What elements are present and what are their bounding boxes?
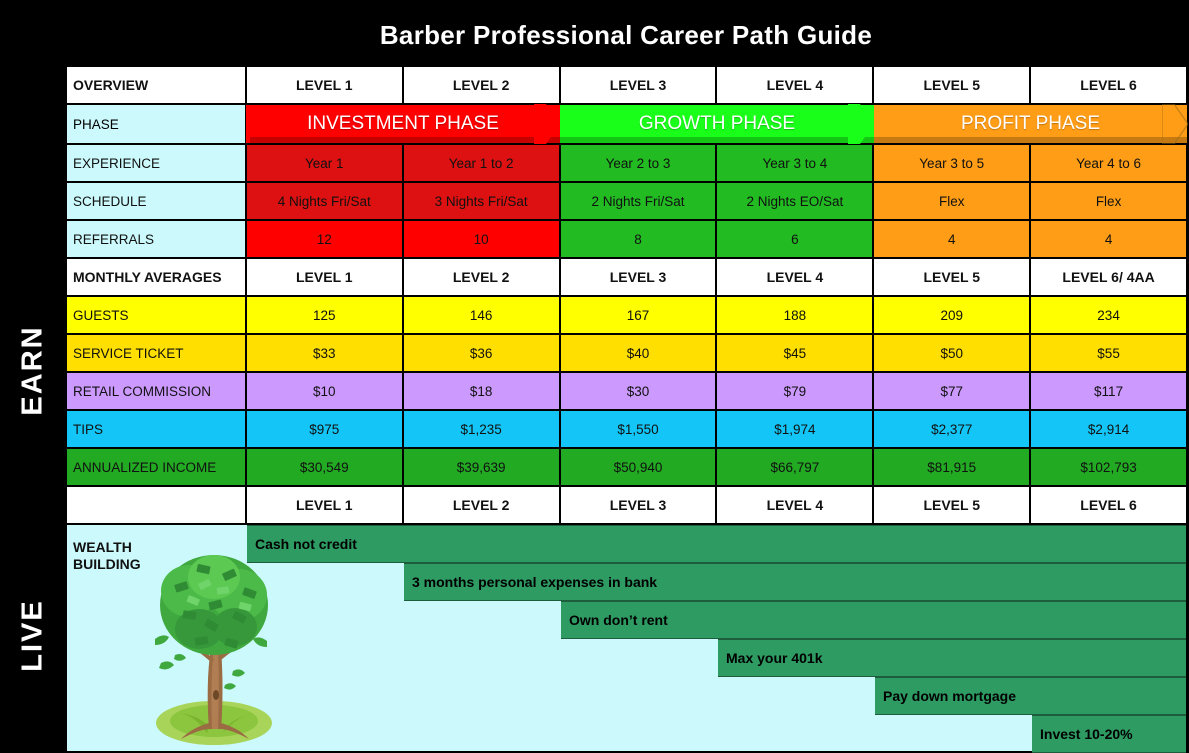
wealth-bar-3-text: Own don’t rent bbox=[561, 612, 668, 628]
monthly-row-3-cell-4: $79 bbox=[716, 372, 873, 410]
rail-earn-text: EARN bbox=[17, 325, 50, 415]
overview-row-1-cell-6: Year 4 to 6 bbox=[1030, 144, 1187, 182]
monthly-header-col-3: LEVEL 3 bbox=[560, 258, 717, 296]
monthly-row-4-cell-5: $2,377 bbox=[873, 410, 1030, 448]
overview-header-label: OVERVIEW bbox=[66, 66, 246, 104]
monthly-row-3-cell-1: $10 bbox=[246, 372, 403, 410]
guide-table: OVERVIEWLEVEL 1LEVEL 2LEVEL 3LEVEL 4LEVE… bbox=[66, 66, 1187, 752]
monthly-row-4: TIPS$975$1,235$1,550$1,974$2,377$2,914 bbox=[66, 410, 1187, 448]
monthly-row-5-label: ANNUALIZED INCOME bbox=[66, 448, 246, 486]
monthly-row-2-cell-6: $55 bbox=[1030, 334, 1187, 372]
phase-banner-3-text: PROFIT PHASE bbox=[961, 113, 1100, 135]
monthly-row-2-cell-1: $33 bbox=[246, 334, 403, 372]
wealth-bar-5-text: Pay down mortgage bbox=[875, 688, 1016, 704]
career-path-guide: Barber Professional Career Path Guide EA… bbox=[0, 0, 1189, 752]
wealth-bar-4-text: Max your 401k bbox=[718, 650, 823, 666]
overview-header-col-3: LEVEL 3 bbox=[560, 66, 717, 104]
page-title: Barber Professional Career Path Guide bbox=[66, 12, 1186, 58]
overview-row-2-label: SCHEDULE bbox=[66, 182, 246, 220]
overview-row-3-cell-3: 8 bbox=[560, 220, 717, 258]
wealth-bar-5: Pay down mortgage bbox=[875, 677, 1186, 715]
monthly-row-5-cell-1: $30,549 bbox=[246, 448, 403, 486]
monthly-row-4-cell-3: $1,550 bbox=[560, 410, 717, 448]
overview-header-col-2: LEVEL 2 bbox=[403, 66, 560, 104]
overview-row-2-cell-3: 2 Nights Fri/Sat bbox=[560, 182, 717, 220]
wealth-header-col-3: LEVEL 3 bbox=[560, 486, 717, 524]
monthly-row-4-cell-4: $1,974 bbox=[716, 410, 873, 448]
phase-banner-2: GROWTH PHASE bbox=[560, 104, 874, 144]
wealth-header-col-1: LEVEL 1 bbox=[246, 486, 403, 524]
overview-row-1: EXPERIENCEYear 1Year 1 to 2Year 2 to 3Ye… bbox=[66, 144, 1187, 182]
monthly-row-1-cell-2: 146 bbox=[403, 296, 560, 334]
monthly-header-col-2: LEVEL 2 bbox=[403, 258, 560, 296]
monthly-row-3-cell-3: $30 bbox=[560, 372, 717, 410]
overview-row-1-cell-3: Year 2 to 3 bbox=[560, 144, 717, 182]
phase-banner-1-shadow bbox=[250, 137, 564, 144]
phase-banner-1: INVESTMENT PHASE bbox=[246, 104, 560, 144]
wealth-label-line2: BUILDING bbox=[73, 556, 141, 573]
monthly-header-label: MONTHLY AVERAGES bbox=[66, 258, 246, 296]
phase-banner-1-text: INVESTMENT PHASE bbox=[307, 113, 499, 135]
monthly-row-3: RETAIL COMMISSION$10$18$30$79$77$117 bbox=[66, 372, 1187, 410]
monthly-row-2-label: SERVICE TICKET bbox=[66, 334, 246, 372]
monthly-row-1-cell-3: 167 bbox=[560, 296, 717, 334]
overview-row-1-cell-5: Year 3 to 5 bbox=[873, 144, 1030, 182]
overview-row-1-cell-2: Year 1 to 2 bbox=[403, 144, 560, 182]
monthly-row-1: GUESTS125146167188209234 bbox=[66, 296, 1187, 334]
overview-header: OVERVIEWLEVEL 1LEVEL 2LEVEL 3LEVEL 4LEVE… bbox=[66, 66, 1187, 104]
overview-row-1-cell-1: Year 1 bbox=[246, 144, 403, 182]
monthly-row-1-cell-5: 209 bbox=[873, 296, 1030, 334]
monthly-row-2-cell-5: $50 bbox=[873, 334, 1030, 372]
wealth-header-col-4: LEVEL 4 bbox=[716, 486, 873, 524]
rail-label-earn: EARN bbox=[0, 250, 66, 490]
monthly-header: MONTHLY AVERAGESLEVEL 1LEVEL 2LEVEL 3LEV… bbox=[66, 258, 1187, 296]
phase-arrow-3-icon bbox=[1162, 104, 1188, 144]
overview-header-col-5: LEVEL 5 bbox=[873, 66, 1030, 104]
monthly-row-1-cell-1: 125 bbox=[246, 296, 403, 334]
monthly-header-col-4: LEVEL 4 bbox=[716, 258, 873, 296]
monthly-row-4-cell-2: $1,235 bbox=[403, 410, 560, 448]
overview-header-col-4: LEVEL 4 bbox=[716, 66, 873, 104]
phase-arrow-1-icon bbox=[534, 104, 560, 144]
monthly-row-4-cell-6: $2,914 bbox=[1030, 410, 1187, 448]
monthly-row-1-cell-6: 234 bbox=[1030, 296, 1187, 334]
monthly-row-2: SERVICE TICKET$33$36$40$45$50$55 bbox=[66, 334, 1187, 372]
phase-row-label: PHASE bbox=[66, 104, 246, 144]
phase-banner-2-shadow bbox=[564, 137, 878, 144]
overview-row-1-cell-4: Year 3 to 4 bbox=[716, 144, 873, 182]
monthly-header-col-1: LEVEL 1 bbox=[246, 258, 403, 296]
wealth-header: LEVEL 1LEVEL 2LEVEL 3LEVEL 4LEVEL 5LEVEL… bbox=[66, 486, 1187, 524]
overview-row-3-cell-2: 10 bbox=[403, 220, 560, 258]
overview-row-2-cell-6: Flex bbox=[1030, 182, 1187, 220]
monthly-row-2-cell-4: $45 bbox=[716, 334, 873, 372]
overview-row-3-cell-1: 12 bbox=[246, 220, 403, 258]
wealth-bar-1-text: Cash not credit bbox=[247, 536, 357, 552]
monthly-row-3-cell-6: $117 bbox=[1030, 372, 1187, 410]
monthly-row-5-cell-6: $102,793 bbox=[1030, 448, 1187, 486]
money-tree-icon bbox=[139, 543, 289, 748]
wealth-bar-2: 3 months personal expenses in bank bbox=[404, 563, 1186, 601]
phase-row: PHASEINVESTMENT PHASEGROWTH PHASEPROFIT … bbox=[66, 104, 1187, 144]
monthly-header-col-5: LEVEL 5 bbox=[873, 258, 1030, 296]
monthly-row-2-cell-3: $40 bbox=[560, 334, 717, 372]
overview-row-2-cell-4: 2 Nights EO/Sat bbox=[716, 182, 873, 220]
monthly-row-4-cell-1: $975 bbox=[246, 410, 403, 448]
wealth-building-section: WEALTHBUILDINGCash not credit3 months pe… bbox=[66, 524, 1187, 752]
rail-live-text: LIVE bbox=[17, 599, 50, 671]
wealth-header-col-2: LEVEL 2 bbox=[403, 486, 560, 524]
monthly-row-4-label: TIPS bbox=[66, 410, 246, 448]
monthly-row-5: ANNUALIZED INCOME$30,549$39,639$50,940$6… bbox=[66, 448, 1187, 486]
overview-row-3-cell-4: 6 bbox=[716, 220, 873, 258]
wealth-bar-2-text: 3 months personal expenses in bank bbox=[404, 574, 657, 590]
wealth-bar-3: Own don’t rent bbox=[561, 601, 1186, 639]
wealth-header-col-5: LEVEL 5 bbox=[873, 486, 1030, 524]
monthly-row-5-cell-2: $39,639 bbox=[403, 448, 560, 486]
overview-header-col-1: LEVEL 1 bbox=[246, 66, 403, 104]
overview-header-col-6: LEVEL 6 bbox=[1030, 66, 1187, 104]
wealth-bar-4: Max your 401k bbox=[718, 639, 1186, 677]
wealth-header-label bbox=[66, 486, 246, 524]
overview-row-1-label: EXPERIENCE bbox=[66, 144, 246, 182]
monthly-header-col-6: LEVEL 6/ 4AA bbox=[1030, 258, 1187, 296]
phase-arrow-2-icon bbox=[848, 104, 874, 144]
overview-row-2-cell-1: 4 Nights Fri/Sat bbox=[246, 182, 403, 220]
monthly-row-3-cell-2: $18 bbox=[403, 372, 560, 410]
monthly-row-5-cell-5: $81,915 bbox=[873, 448, 1030, 486]
monthly-row-5-cell-3: $50,940 bbox=[560, 448, 717, 486]
overview-row-3-cell-5: 4 bbox=[873, 220, 1030, 258]
monthly-row-2-cell-2: $36 bbox=[403, 334, 560, 372]
overview-row-2-cell-2: 3 Nights Fri/Sat bbox=[403, 182, 560, 220]
overview-row-3: REFERRALS12108644 bbox=[66, 220, 1187, 258]
monthly-row-3-cell-5: $77 bbox=[873, 372, 1030, 410]
phase-banner-3-shadow bbox=[878, 137, 1189, 144]
wealth-bar-6: Invest 10-20% bbox=[1032, 715, 1186, 753]
wealth-header-col-6: LEVEL 6 bbox=[1030, 486, 1187, 524]
monthly-row-3-label: RETAIL COMMISSION bbox=[66, 372, 246, 410]
overview-row-2-cell-5: Flex bbox=[873, 182, 1030, 220]
overview-row-2: SCHEDULE4 Nights Fri/Sat3 Nights Fri/Sat… bbox=[66, 182, 1187, 220]
wealth-building-label: WEALTHBUILDING bbox=[73, 539, 141, 573]
phase-banner-3: PROFIT PHASE bbox=[874, 104, 1188, 144]
overview-row-3-label: REFERRALS bbox=[66, 220, 246, 258]
wealth-label-line1: WEALTH bbox=[73, 539, 141, 556]
wealth-bar-6-text: Invest 10-20% bbox=[1032, 726, 1133, 742]
wealth-bar-1: Cash not credit bbox=[247, 525, 1186, 563]
monthly-row-1-cell-4: 188 bbox=[716, 296, 873, 334]
overview-row-3-cell-6: 4 bbox=[1030, 220, 1187, 258]
phase-banner-2-text: GROWTH PHASE bbox=[639, 113, 795, 135]
monthly-row-5-cell-4: $66,797 bbox=[716, 448, 873, 486]
rail-label-live: LIVE bbox=[0, 520, 66, 750]
monthly-row-1-label: GUESTS bbox=[66, 296, 246, 334]
